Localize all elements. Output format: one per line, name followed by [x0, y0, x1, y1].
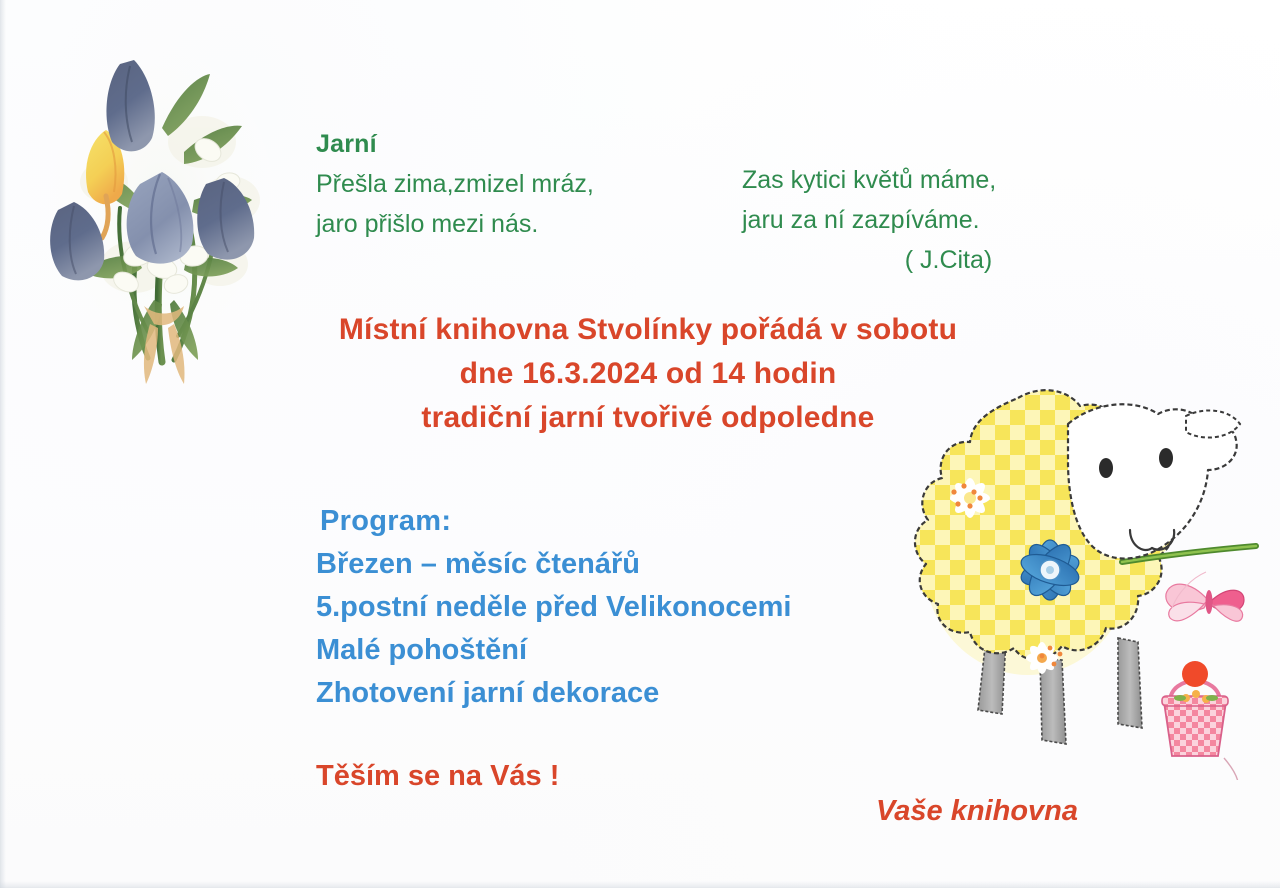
easter-sheep-illustration — [890, 380, 1280, 780]
headline-line-1: Místní knihovna Stvolínky pořádá v sobot… — [268, 308, 1028, 352]
scan-edge-shadow-bottom — [0, 881, 1280, 888]
program-item-4: Zhotovení jarní dekorace — [316, 672, 791, 715]
poem-line-3: Zas kytici květů máme, — [742, 160, 996, 200]
poster-canvas: Jarní Přešla zima,zmizel mráz, jaro přiš… — [0, 0, 1280, 888]
poem-line-1: Přešla zima,zmizel mráz, — [316, 164, 594, 204]
poem-right-column: Zas kytici květů máme, jaru za ní zazpív… — [742, 160, 996, 280]
poem-attribution: ( J.Cita) — [742, 240, 996, 280]
signature-line: Vaše knihovna — [876, 795, 1078, 828]
program-item-1: Březen – měsíc čtenářů — [316, 543, 791, 586]
program-item-2: 5.postní neděle před Velikonocemi — [316, 586, 791, 629]
poem-line-2: jaro přišlo mezi nás. — [316, 204, 594, 244]
program-item-3: Malé pohoštění — [316, 629, 791, 672]
spring-bouquet-illustration — [44, 32, 294, 412]
poem-left-column: Jarní Přešla zima,zmizel mráz, jaro přiš… — [316, 124, 594, 244]
program-section: Program: Březen – měsíc čtenářů 5.postní… — [316, 500, 791, 715]
program-title: Program: — [316, 500, 791, 543]
poem-line-4: jaru za ní zazpíváme. — [742, 200, 996, 240]
scan-edge-shadow-left — [0, 0, 6, 888]
closing-invitation: Těším se na Vás ! — [316, 760, 559, 793]
poem-title: Jarní — [316, 124, 594, 164]
